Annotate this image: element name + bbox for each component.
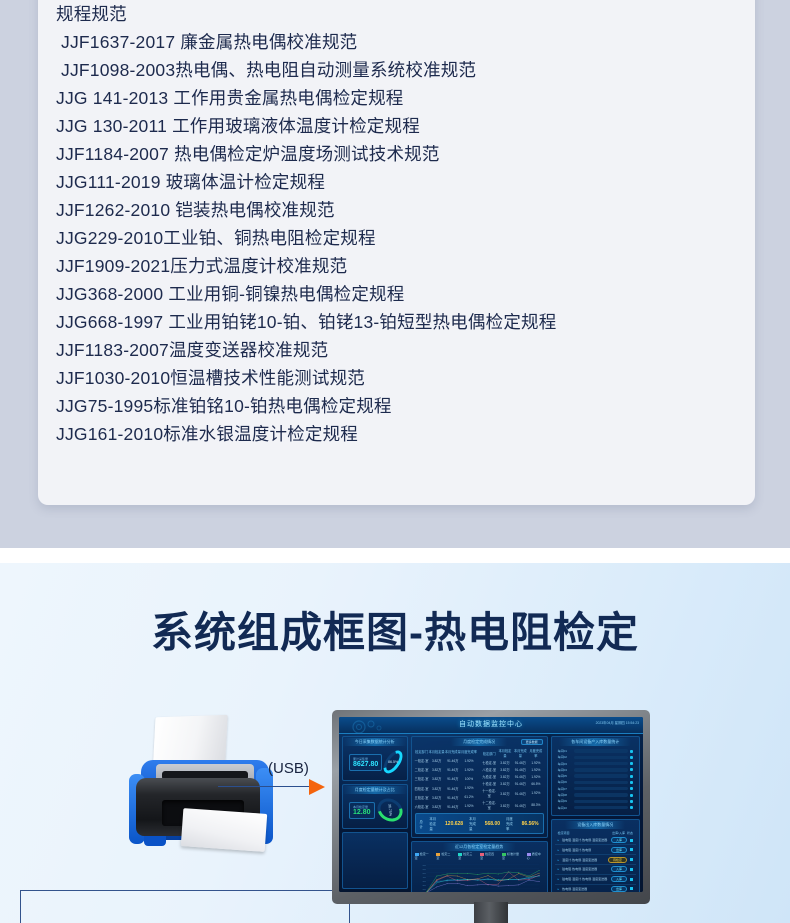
table-row[interactable]: 十检定-室 3.82万 91.46万 66.5% — [481, 780, 544, 787]
bar-row: 车间02 — [558, 755, 633, 759]
table-row[interactable]: 二检定-室 3.82万 91.46万 1.92% — [415, 765, 478, 774]
dashboard-body: 今日采集数据统计分析 累计采集量 8627.80 86.5% — [342, 736, 640, 889]
dashboard-left-column: 今日采集数据统计分析 累计采集量 8627.80 86.5% — [342, 736, 408, 889]
status-badge: 入库 — [611, 837, 627, 843]
cell-dept: 四检定-室 — [415, 784, 429, 793]
table-row[interactable]: 九检定-室 3.82万 91.46万 1.92% — [481, 773, 544, 780]
bar-end-dot — [630, 806, 633, 809]
printer-paper-output — [181, 808, 267, 852]
trend-line-chart-panel: 近12月各检定室检定量趋势 检定一室 检定二室 检定三室 检定四室 标准计量室 … — [411, 841, 548, 892]
status-badge: 入库 — [611, 866, 627, 872]
kpi-box: 累计采集量 8627.80 — [349, 754, 382, 771]
kpi-value: 8627.80 — [353, 761, 378, 768]
bar-end-dot — [630, 781, 633, 784]
cell-dept: 十一检定-室 — [481, 787, 497, 799]
section-divider — [0, 548, 790, 563]
table-row[interactable]: 一检定-室 3.82万 91.46万 1.92% — [415, 756, 478, 765]
legend-item: 质控中心 — [527, 852, 544, 860]
status-badge: 出库 — [611, 847, 627, 853]
bar-label: 车间04 — [558, 768, 572, 772]
cell-v2: 91.46万 — [445, 784, 461, 793]
bar-row: 车间06 — [558, 780, 633, 784]
cell-v2: 91.46万 — [513, 780, 528, 787]
bar-end-dot — [630, 775, 633, 778]
legend-item: 检定四室 — [480, 852, 497, 860]
legend-item: 检定三室 — [458, 852, 475, 860]
bar-end-dot — [630, 762, 633, 765]
summary-c2-label: 本月完成量 — [469, 816, 479, 831]
list-item-label: 铂电阻·温度计·热电偶·温度变送器·标准器 — [562, 877, 608, 881]
bar-end-dot — [630, 756, 633, 759]
standard-item: JJG368-2000 工业用铜-铜镍热电偶检定规程 — [56, 280, 745, 308]
bullet-icon: ▸ — [558, 848, 560, 852]
standard-item: JJG229-2010工业铂、铜热电阻检定规程 — [56, 224, 745, 252]
monitor-stand — [474, 902, 508, 923]
bar-end-dot — [630, 800, 633, 803]
table-row[interactable]: 六检定-室 3.82万 91.46万 1.92% — [415, 802, 478, 811]
monitor-icon: 自动数据监控中心 2023年04月 星期四 15:54:23 今日采集数据统计分… — [332, 710, 650, 923]
arrow-right-icon — [309, 779, 325, 795]
dashboard: 自动数据监控中心 2023年04月 星期四 15:54:23 今日采集数据统计分… — [339, 717, 643, 892]
rank-list-panel: 设备出入库数量情况 检定项目 出库/入库 状态 ▸ 铂电阻·温度计·热电偶·温度… — [551, 819, 640, 892]
ring-value: 86.5% — [389, 752, 397, 772]
standard-item: JJG111-2019 玻璃体温计检定规程 — [56, 168, 745, 196]
bar-chart-list: 车间01 车间02 车间03 车间04 车间05 车间06 车间07 车间08 … — [555, 747, 636, 812]
kpi-panel-month: 月度检定量统计及占比 本月检定量 12.80 36.75% — [342, 784, 408, 829]
status-square-icon — [630, 878, 633, 881]
bar-label: 车间08 — [558, 793, 572, 797]
cell-dept: 三检定-室 — [415, 774, 429, 783]
col-header: 检定部门 — [481, 747, 497, 759]
svg-text:700%: 700% — [422, 864, 426, 866]
kpi-row: 本月检定量 12.80 36.75% — [346, 795, 404, 825]
legend-item: 检定二室 — [436, 852, 453, 860]
dept-table-right: 检定部门 本月检定量 本月完成量 月度完成率 七检定-室 3.82万 — [481, 747, 544, 811]
col-header: 出库/入库 — [612, 831, 625, 835]
standard-item: JJF1183-2007温度变送器校准规范 — [56, 336, 745, 364]
panel-title: 月度检定量统计及占比 — [343, 786, 407, 794]
bar-row: 车间09 — [558, 799, 633, 803]
standard-item: JJF1637-2017 廉金属热电偶校准规范 — [56, 28, 745, 56]
cell-v2: 91.46万 — [513, 759, 528, 766]
bar-track — [574, 787, 628, 790]
col-header: 本月完成量 — [513, 747, 528, 759]
status-badge: 入库 — [611, 876, 627, 882]
svg-text:500%: 500% — [422, 872, 426, 874]
table-row[interactable]: 三检定-室 3.82万 91.46万 100% — [415, 774, 478, 783]
status-square-icon — [630, 887, 633, 890]
list-item-label: 热电偶·温度变送器 — [562, 887, 608, 891]
cell-v1: 3.82万 — [497, 799, 512, 811]
list-item-label: 温度计·热电偶·温度变送器 — [562, 858, 605, 862]
bar-label: 车间06 — [558, 780, 572, 784]
svg-text:600%: 600% — [422, 868, 426, 870]
list-item-label: 铂电阻·温度计·热电偶·温度变送器·标准器 — [562, 838, 608, 842]
usb-connection-label: (USB) — [268, 760, 309, 777]
list-item[interactable]: ▸ 铂电阻·温度计·热电偶 出库 — [555, 845, 636, 855]
cell-v1: 3.82万 — [429, 802, 445, 811]
line-chart-svg: 700%600%500%400%300%200%100%0第1月第2月第3月第4… — [418, 863, 541, 892]
monitor-screen: 自动数据监控中心 2023年04月 星期四 15:54:23 今日采集数据统计分… — [339, 717, 643, 892]
status-square-icon — [630, 858, 633, 861]
bar-row: 车间01 — [558, 749, 633, 753]
cell-v2: 91.46万 — [445, 756, 461, 765]
cell-pct: 1.92% — [528, 759, 544, 766]
cell-v1: 3.82万 — [429, 756, 445, 765]
progress-ring: 86.5% — [380, 747, 407, 776]
list-item[interactable]: ▸ 铂电阻·热电偶·温度变送器 入库 — [555, 865, 636, 875]
dept-table-wrapper: 检定部门 本月检定量 本月完成量 月度完成率 一检定-室 3.82万 — [415, 747, 544, 811]
kpi-row: 累计采集量 8627.80 86.5% — [346, 747, 404, 777]
cell-v1: 3.82万 — [497, 787, 512, 799]
cell-dept: 十检定-室 — [481, 780, 497, 787]
cell-pct: 1.92% — [461, 756, 477, 765]
panel-title: 设备出入库数量情况 — [565, 821, 625, 829]
legend-item: 标准计量室 — [502, 852, 522, 860]
section-title: 系统组成框图-热电阻检定 — [0, 599, 790, 660]
cell-v1: 3.82万 — [497, 759, 512, 766]
bar-row: 车间04 — [558, 768, 633, 772]
cell-pct: 1.92% — [528, 773, 544, 780]
page-root: 操作流程 规程规范 JJF1637-2017 廉金属热电偶校准规范 JJF109… — [0, 0, 790, 923]
standards-heading: 规程规范 — [56, 0, 745, 28]
col-header: 检定部门 — [415, 747, 429, 756]
bullet-icon: ▸ — [558, 858, 560, 862]
list-item[interactable]: ▸ 铂电阻·温度计·热电偶·温度变送器·标准器 入库 — [555, 875, 636, 885]
ring-value: 36.75% — [379, 801, 400, 819]
summary-c3-value: 86.56% — [522, 821, 539, 827]
cell-pct: 1.92% — [461, 784, 477, 793]
list-item[interactable]: ▸ 温度计·热电偶·温度变送器 待检定 — [555, 855, 636, 865]
status-square-icon — [630, 868, 633, 871]
cell-pct: 100% — [461, 774, 477, 783]
panel-title: 各车间设备产入库数量统计 — [559, 738, 631, 746]
standard-item: JJF1184-2007 热电偶检定炉温度场测试技术规范 — [56, 140, 745, 168]
standards-card: 操作流程 规程规范 JJF1637-2017 廉金属热电偶校准规范 JJF109… — [38, 0, 755, 505]
kpi-value: 12.80 — [353, 809, 371, 816]
cell-pct: 88.3% — [528, 799, 544, 811]
bar-track — [574, 774, 628, 777]
table-row[interactable]: 四检定-室 3.82万 91.46万 1.92% — [415, 784, 478, 793]
cell-dept: 二检定-室 — [415, 765, 429, 774]
diagram-outline-box — [20, 890, 350, 923]
col-header: 本月检定量 — [429, 747, 445, 756]
col-header: 状态 — [627, 831, 633, 835]
dashboard-middle-column: 月度检定完成情况 更多数据 检定部门 本月检定量 本月完成量 月度完成率 — [411, 736, 548, 889]
panel-title: 近12月各检定室检定量趋势 — [443, 843, 515, 851]
col-header: 检定项目 — [558, 831, 611, 835]
table-header-row: 检定部门 本月检定量 本月完成量 月度完成率 — [415, 747, 478, 756]
bar-end-dot — [630, 750, 633, 753]
summary-c2-value: 568.00 — [485, 821, 500, 827]
col-header: 月度完成率 — [461, 747, 477, 756]
list-item-label: 铂电阻·温度计·热电偶 — [562, 848, 608, 852]
printer-icon — [134, 716, 279, 848]
cell-dept: 七检定-室 — [481, 759, 497, 766]
bullet-icon: ▸ — [558, 887, 560, 891]
cell-pct: 61.2% — [461, 793, 477, 802]
standard-item: JJG668-1997 工业用铂铑10-铂、铂铑13-铂短型热电偶检定规程 — [56, 308, 745, 336]
cell-dept: 六检定-室 — [415, 802, 429, 811]
standard-item: JJF1030-2010恒温槽技术性能测试规范 — [56, 364, 745, 392]
list-item-label: 铂电阻·热电偶·温度变送器 — [562, 867, 608, 871]
cell-v2: 91.46万 — [513, 773, 528, 780]
standards-list: 规程规范 JJF1637-2017 廉金属热电偶校准规范 JJF1098-200… — [56, 0, 745, 448]
cell-v1: 3.82万 — [497, 766, 512, 773]
cell-v2: 91.46万 — [513, 766, 528, 773]
bar-track — [574, 749, 628, 752]
cell-pct: 1.92% — [528, 766, 544, 773]
table-summary-bar: 总计 本月检定量 120.628 本月完成量 568.00 月度完成率 86.5… — [415, 813, 544, 834]
cell-v2: 91.46万 — [445, 765, 461, 774]
panel-title: 月度检定完成情况 — [451, 738, 507, 746]
standard-item: JJG161-2010标准水银温度计检定规程 — [56, 420, 745, 448]
standard-item: JJF1262-2010 铠装热电偶校准规范 — [56, 196, 745, 224]
col-header: 本月完成量 — [445, 747, 461, 756]
bar-row: 车间08 — [558, 793, 633, 797]
bar-track — [574, 781, 628, 784]
summary-c1-label: 本月检定量 — [429, 816, 439, 831]
svg-text:400%: 400% — [422, 876, 426, 878]
cell-v1: 3.82万 — [497, 773, 512, 780]
cell-dept: 一检定-室 — [415, 756, 429, 765]
col-header: 月度完成率 — [528, 747, 544, 759]
cell-v1: 3.82万 — [497, 780, 512, 787]
cell-v1: 3.82万 — [429, 784, 445, 793]
status-badge: 出库 — [611, 886, 627, 892]
dept-table-left: 检定部门 本月检定量 本月完成量 月度完成率 一检定-室 3.82万 — [415, 747, 478, 811]
progress-ring: 36.75% — [373, 794, 407, 826]
bar-end-dot — [630, 768, 633, 771]
standard-item: JJF1909-2021压力式温度计校准规范 — [56, 252, 745, 280]
cell-pct: 1.92% — [461, 765, 477, 774]
bar-label: 车间07 — [558, 787, 572, 791]
kpi-caption: 本月检定量 — [353, 805, 371, 809]
more-data-button[interactable]: 更多数据 — [521, 739, 543, 745]
bullet-icon: ▸ — [558, 877, 560, 881]
standards-section: 操作流程 规程规范 JJF1637-2017 廉金属热电偶校准规范 JJF109… — [0, 0, 790, 548]
cell-v2: 91.46万 — [445, 774, 461, 783]
chart-legend: 检定一室 检定二室 检定三室 检定四室 标准计量室 质控中心 — [415, 852, 544, 860]
dept-table-panel: 月度检定完成情况 更多数据 检定部门 本月检定量 本月完成量 月度完成率 — [411, 736, 548, 838]
standard-item: JJG75-1995标准铂铭10-铂热电偶检定规程 — [56, 392, 745, 420]
cell-dept: 九检定-室 — [481, 773, 497, 780]
dashboard-timestamp: 2023年04月 星期四 15:54:23 — [596, 720, 639, 725]
table-row[interactable]: 十二检定-室 3.82万 91.46万 88.3% — [481, 799, 544, 811]
bar-label: 车间10 — [558, 806, 572, 810]
usb-connection-line — [218, 786, 311, 787]
bar-track — [574, 756, 628, 759]
bar-track — [574, 800, 628, 803]
cell-pct: 66.5% — [528, 780, 544, 787]
cell-v2: 91.46万 — [445, 802, 461, 811]
bar-row: 车间07 — [558, 787, 633, 791]
table-row[interactable]: 七检定-室 3.82万 91.46万 1.92% — [481, 759, 544, 766]
line-chart-plot: 700%600%500%400%300%200%100%0第1月第2月第3月第4… — [415, 861, 544, 892]
summary-label: 总计 — [420, 819, 424, 829]
cell-dept: 十二检定-室 — [481, 799, 497, 811]
col-header: 本月检定量 — [497, 747, 512, 759]
panel-title: 今日采集数据统计分析 — [343, 738, 407, 746]
dashboard-right-column: 各车间设备产入库数量统计 车间01 车间02 车间03 车间04 车间05 车间… — [551, 736, 640, 889]
bar-end-dot — [630, 794, 633, 797]
bar-label: 车间09 — [558, 799, 572, 803]
bar-row: 车间10 — [558, 806, 633, 810]
printer-foot-left — [144, 836, 166, 846]
status-badge: 待检定 — [608, 857, 627, 863]
svg-text:300%: 300% — [422, 880, 426, 882]
legend-item: 检定一室 — [415, 852, 432, 860]
cell-v1: 3.82万 — [429, 765, 445, 774]
bar-track — [574, 768, 628, 771]
list-item[interactable]: ▸ 热电偶·温度变送器 出库 — [555, 885, 636, 892]
summary-c3-label: 月度完成率 — [506, 816, 516, 831]
bar-track — [574, 806, 628, 809]
bar-label: 车间05 — [558, 774, 572, 778]
svg-text:200%: 200% — [422, 884, 426, 886]
bar-label: 车间01 — [558, 749, 572, 753]
table-row[interactable]: 八检定-室 3.82万 91.46万 1.92% — [481, 766, 544, 773]
cell-pct: 1.92% — [461, 802, 477, 811]
rank-list: ▸ 铂电阻·温度计·热电偶·温度变送器·标准器 入库 ▸ 铂电阻·温度计·热电偶… — [555, 836, 636, 892]
cell-v1: 3.82万 — [429, 793, 445, 802]
standard-item: JJF1098-2003热电偶、热电阻自动测量系统校准规范 — [56, 56, 745, 84]
bar-row: 车间05 — [558, 774, 633, 778]
svg-text:100%: 100% — [422, 889, 426, 891]
cell-v2: 91.46万 — [513, 787, 528, 799]
table-row[interactable]: 五检定-室 3.82万 91.46万 61.2% — [415, 793, 478, 802]
list-item[interactable]: ▸ 铂电阻·温度计·热电偶·温度变送器·标准器 入库 — [555, 836, 636, 846]
cell-dept: 五检定-室 — [415, 793, 429, 802]
bar-label: 车间03 — [558, 762, 572, 766]
kpi-box: 本月检定量 12.80 — [349, 802, 375, 819]
bar-row: 车间03 — [558, 762, 633, 766]
bullet-icon: ▸ — [558, 867, 560, 871]
bar-label: 车间02 — [558, 755, 572, 759]
bar-track — [574, 762, 628, 765]
bar-end-dot — [630, 787, 633, 790]
mini-stats-panel — [342, 832, 408, 889]
table-header-row: 检定部门 本月检定量 本月完成量 月度完成率 — [481, 747, 544, 759]
cell-v2: 91.46万 — [445, 793, 461, 802]
cell-pct: 1.92% — [528, 787, 544, 799]
cell-dept: 八检定-室 — [481, 766, 497, 773]
table-row[interactable]: 十一检定-室 3.82万 91.46万 1.92% — [481, 787, 544, 799]
bar-chart-panel: 各车间设备产入库数量统计 车间01 车间02 车间03 车间04 车间05 车间… — [551, 736, 640, 816]
status-square-icon — [630, 839, 633, 842]
cell-v2: 91.46万 — [513, 799, 528, 811]
summary-c1-value: 120.628 — [445, 821, 463, 827]
cell-v1: 3.82万 — [429, 774, 445, 783]
bar-track — [574, 793, 628, 796]
status-square-icon — [630, 848, 633, 851]
bullet-icon: ▸ — [558, 838, 560, 842]
kpi-panel-today: 今日采集数据统计分析 累计采集量 8627.80 86.5% — [342, 736, 408, 781]
standard-item: JJG 130-2011 工作用玻璃液体温度计检定规程 — [56, 112, 745, 140]
standard-item: JJG 141-2013 工作用贵金属热电偶检定规程 — [56, 84, 745, 112]
monitor-bezel: 自动数据监控中心 2023年04月 星期四 15:54:23 今日采集数据统计分… — [332, 710, 650, 904]
